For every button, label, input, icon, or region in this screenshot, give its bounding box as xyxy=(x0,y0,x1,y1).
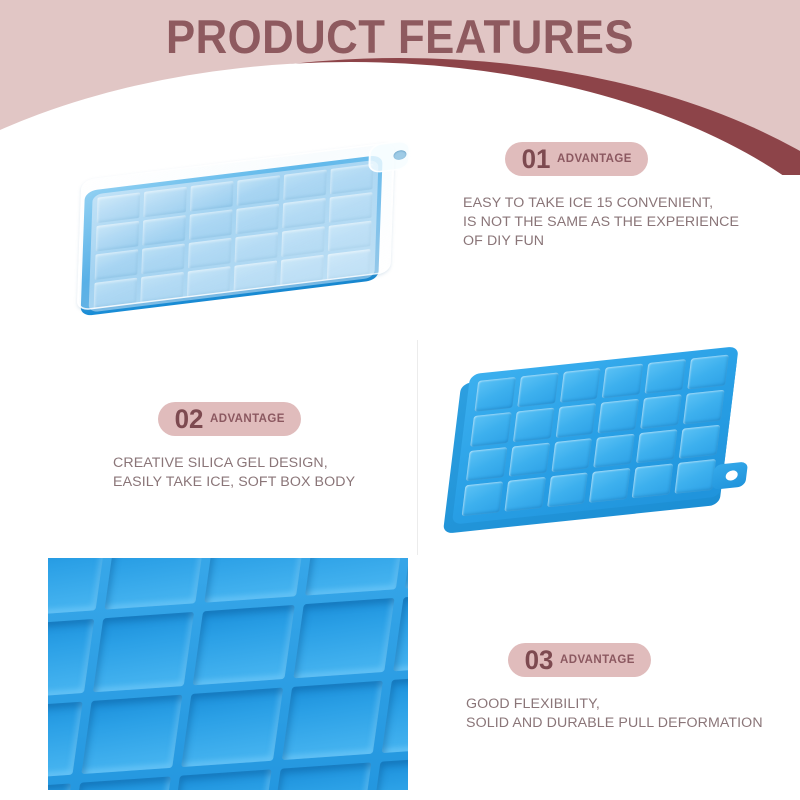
tray-cavity xyxy=(270,762,371,790)
tray-bump xyxy=(513,407,554,442)
tray-cavity xyxy=(48,619,94,699)
ice-tray-lidded-graphic xyxy=(77,143,379,307)
tray-cavity xyxy=(48,558,106,617)
tray-cavity xyxy=(393,591,408,671)
tray-cavity xyxy=(182,687,283,767)
tray-underside-bump-grid xyxy=(452,346,739,525)
page-title: PRODUCT FEATURES xyxy=(28,8,772,66)
tray-bump xyxy=(683,389,724,424)
tray-bump xyxy=(645,359,686,394)
tray-bump xyxy=(560,368,601,403)
tray-cavity xyxy=(293,598,394,678)
feature-block-03: 03 ADVANTAGE GOOD FLEXIBILITY, SOLID AND… xyxy=(508,643,800,733)
tray-hanging-tab xyxy=(711,461,748,490)
tray-bump xyxy=(679,424,720,459)
tray-bump xyxy=(470,412,511,447)
tray-bump xyxy=(636,429,677,464)
advantage-badge-03: 03 ADVANTAGE xyxy=(508,643,651,677)
feature-block-02: 02 ADVANTAGE CREATIVE SILICA GEL DESIGN,… xyxy=(158,402,458,492)
badge-label: ADVANTAGE xyxy=(557,152,632,166)
tray-clear-lid xyxy=(77,142,395,312)
tray-cavity xyxy=(382,673,408,753)
ice-tray-underside-graphic xyxy=(451,346,738,529)
badge-number: 01 xyxy=(522,145,551,173)
tray-bump xyxy=(517,372,558,407)
feature-description-01: EASY TO TAKE ICE 15 CONVENIENT, IS NOT T… xyxy=(463,194,795,251)
tray-bump xyxy=(589,468,630,503)
photo-ice-tray-closeup xyxy=(48,558,408,790)
tray-bump xyxy=(632,464,673,499)
tray-bump xyxy=(555,403,596,438)
tray-cavity xyxy=(48,783,71,790)
tray-bump xyxy=(474,377,515,412)
tray-bump xyxy=(462,482,503,517)
tray-bump xyxy=(641,394,682,429)
photo-ice-tray-with-clear-lid xyxy=(60,120,420,350)
tray-cavity xyxy=(82,694,183,774)
badge-number: 03 xyxy=(525,646,554,674)
tray-bump xyxy=(547,473,588,508)
tray-cavity xyxy=(193,605,294,685)
tray-bump xyxy=(509,442,550,477)
tray-tab-hole xyxy=(725,470,738,481)
tray-cavity xyxy=(105,558,206,610)
tray-cavity xyxy=(93,612,194,692)
tray-tab-hole xyxy=(393,150,406,161)
advantage-badge-02: 02 ADVANTAGE xyxy=(158,402,301,436)
feature-description-02: CREATIVE SILICA GEL DESIGN, EASILY TAKE … xyxy=(113,454,458,492)
tray-bump xyxy=(675,459,716,494)
tray-hanging-tab xyxy=(368,140,411,174)
tray-cavity xyxy=(405,558,408,589)
badge-label: ADVANTAGE xyxy=(210,412,285,426)
badge-label: ADVANTAGE xyxy=(560,653,635,667)
tray-bump xyxy=(504,477,545,512)
feature-description-03: GOOD FLEXIBILITY, SOLID AND DURABLE PULL… xyxy=(466,695,800,733)
tray-cavity xyxy=(70,776,171,790)
advantage-badge-01: 01 ADVANTAGE xyxy=(505,142,648,176)
tray-cavity xyxy=(205,558,306,603)
tray-bump xyxy=(598,398,639,433)
product-features-infographic: PRODUCT FEATURES xyxy=(0,0,800,800)
badge-number: 02 xyxy=(175,405,204,433)
tray-cavity xyxy=(305,558,406,596)
tray-cavity xyxy=(370,755,408,790)
tray-cavity xyxy=(48,701,83,781)
photo-ice-tray-underside xyxy=(440,335,780,550)
tray-bump xyxy=(551,438,592,473)
tray-bump xyxy=(466,447,507,482)
tray-bump xyxy=(687,355,728,390)
tray-cavity xyxy=(282,680,383,760)
feature-block-01: 01 ADVANTAGE EASY TO TAKE ICE 15 CONVENI… xyxy=(505,142,795,251)
tray-bump xyxy=(594,433,635,468)
tray-cavity xyxy=(170,769,271,790)
ice-tray-closeup-graphic xyxy=(48,558,408,790)
tray-bump xyxy=(602,364,643,399)
